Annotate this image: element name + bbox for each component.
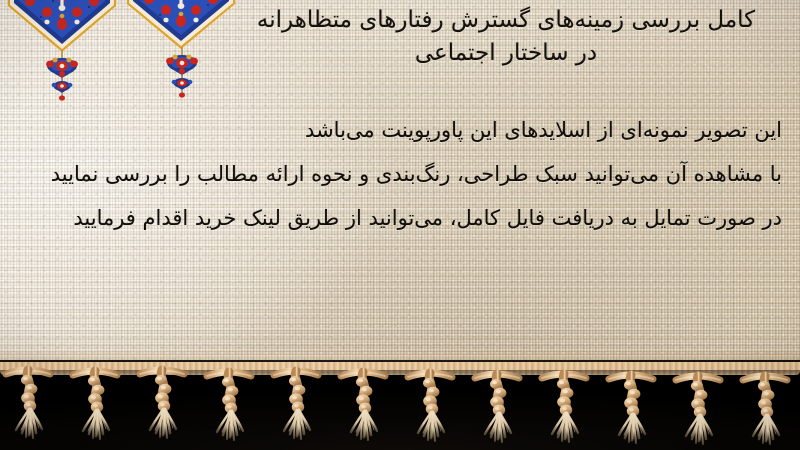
weave-texture-fine — [0, 0, 800, 374]
weave-texture-coarse — [0, 0, 800, 374]
selvage-drop-shadow — [0, 370, 800, 379]
carpet-canvas-background — [0, 0, 800, 374]
presentation-slide: کامل بررسی زمینه‌های گسترش رفتارهای متظا… — [0, 0, 800, 450]
weave-texture-noise — [0, 0, 800, 374]
